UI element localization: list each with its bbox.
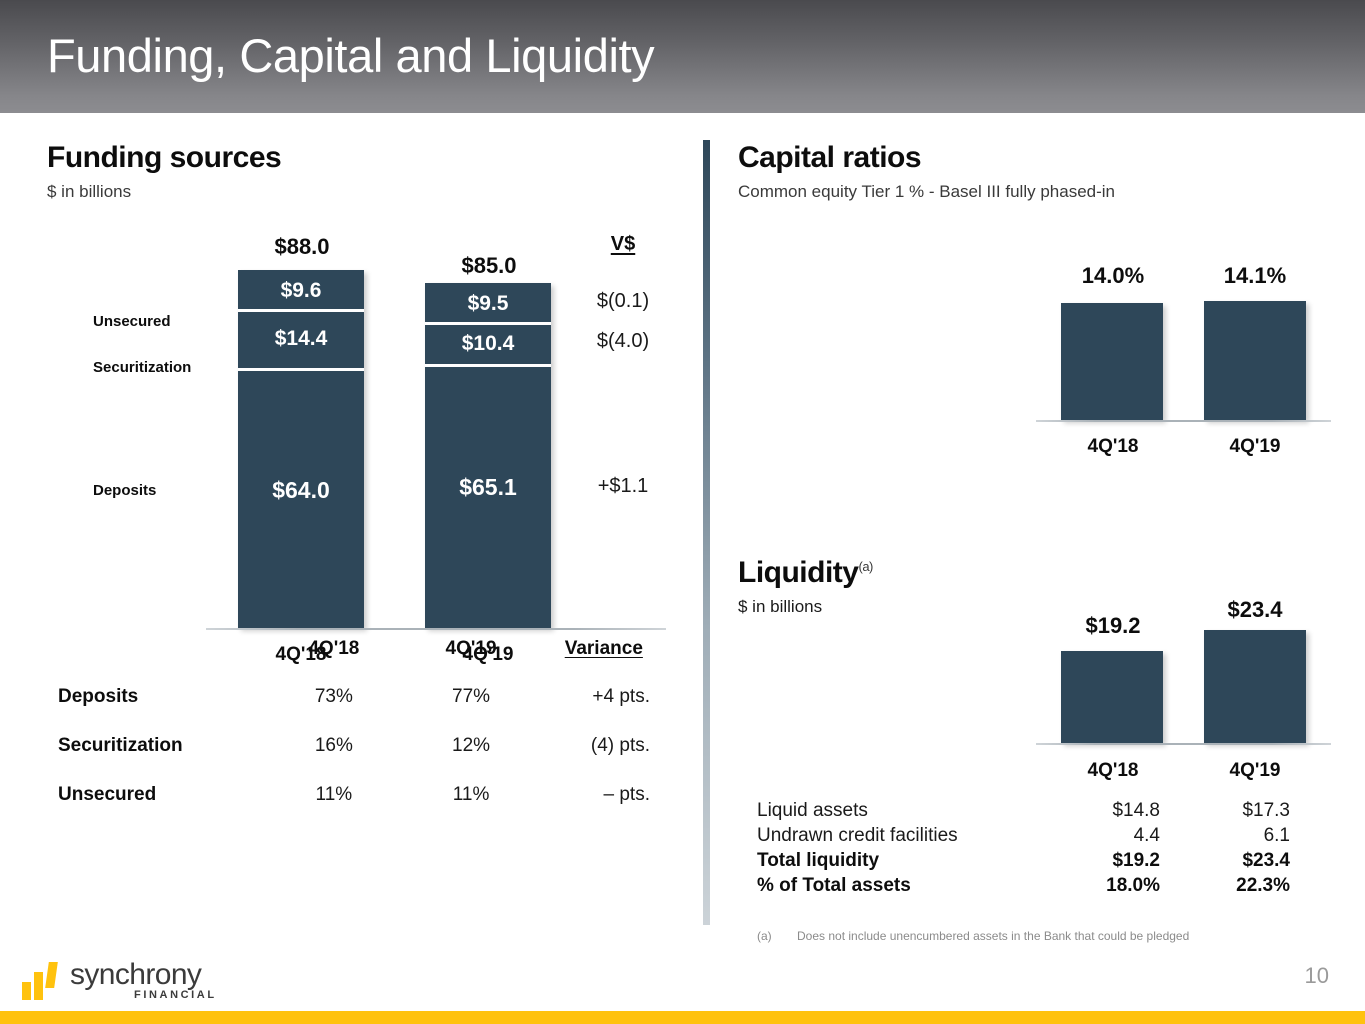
funding-side-label-unsecured: Unsecured — [93, 313, 171, 330]
liquidity-row-label-liquid-assets: Liquid assets — [757, 798, 1052, 823]
capital-value-q19: 14.1% — [1200, 263, 1310, 289]
funding-mix-securitization-variance: (4) pts. — [540, 721, 668, 770]
funding-side-label-securitization: Securitization — [93, 359, 191, 376]
table-row: % of Total assets 18.0% 22.3% — [757, 873, 1312, 898]
liquidity-row-label-pct-assets: % of Total assets — [757, 873, 1052, 898]
funding-variance-unsecured: $(0.1) — [568, 290, 678, 313]
section-divider — [703, 140, 710, 925]
funding-mix-deposits-q19: 77% — [402, 672, 539, 721]
funding-bar-q19-divider-1 — [425, 322, 551, 325]
funding-mix-row-label-unsecured: Unsecured — [58, 770, 265, 819]
logo-wordmark: synchrony — [70, 958, 201, 992]
liquidity-value-q19: $23.4 — [1200, 597, 1310, 623]
funding-bar-q18-divider-2 — [238, 368, 364, 371]
liquidity-row-label-undrawn: Undrawn credit facilities — [757, 823, 1052, 848]
capital-bar-q18 — [1061, 303, 1163, 420]
funding-mix-header-q19: 4Q'19 — [402, 638, 539, 672]
table-row: Securitization 16% 12% (4) pts. — [58, 721, 668, 770]
funding-value-q18-unsecured: $9.6 — [238, 279, 364, 303]
funding-variance-deposits: +$1.1 — [568, 475, 678, 498]
funding-mix-unsecured-q18: 11% — [265, 770, 402, 819]
funding-bar-q18 — [238, 270, 364, 628]
liquidity-heading: Liquidity(a) — [738, 556, 873, 590]
funding-bar-q19-divider-2 — [425, 364, 551, 367]
funding-total-q18: $88.0 — [238, 234, 366, 260]
funding-side-label-deposits: Deposits — [93, 482, 156, 499]
liquidity-heading-text: Liquidity — [738, 556, 858, 589]
slide: Funding, Capital and Liquidity Funding s… — [0, 0, 1365, 1024]
funding-variance-securitization: $(4.0) — [568, 330, 678, 353]
funding-mix-deposits-q18: 73% — [265, 672, 402, 721]
logo-subtext: FINANCIAL — [134, 989, 217, 1001]
liquidity-total-q18: $19.2 — [1052, 848, 1182, 873]
synchrony-logo-mark-icon — [22, 962, 64, 1000]
funding-bar-q18-divider-1 — [238, 309, 364, 312]
funding-mix-deposits-variance: +4 pts. — [540, 672, 668, 721]
liquidity-chart-axis — [1036, 743, 1331, 745]
table-row: Undrawn credit facilities 4.4 6.1 — [757, 823, 1312, 848]
liquidity-bar-q18 — [1061, 651, 1163, 743]
funding-mix-securitization-q18: 16% — [265, 721, 402, 770]
capital-category-q18: 4Q'18 — [1058, 436, 1168, 458]
table-row: Liquid assets $14.8 $17.3 — [757, 798, 1312, 823]
funding-value-q19-unsecured: $9.5 — [425, 292, 551, 316]
funding-mix-row-label-deposits: Deposits — [58, 672, 265, 721]
capital-value-q18: 14.0% — [1058, 263, 1168, 289]
funding-mix-securitization-q19: 12% — [402, 721, 539, 770]
funding-mix-unsecured-variance: – pts. — [540, 770, 668, 819]
liquidity-pct-assets-q19: 22.3% — [1182, 873, 1312, 898]
capital-chart-axis — [1036, 420, 1331, 422]
capital-ratios-subtitle: Common equity Tier 1 % - Basel III fully… — [738, 182, 1115, 202]
funding-mix-header-variance: Variance — [540, 638, 668, 672]
funding-sources-subtitle: $ in billions — [47, 182, 131, 202]
page-number: 10 — [1305, 963, 1329, 989]
funding-mix-header-q18: 4Q'18 — [265, 638, 402, 672]
table-row: Deposits 73% 77% +4 pts. — [58, 672, 668, 721]
capital-ratios-heading: Capital ratios — [738, 141, 921, 175]
footnote-text: Does not include unencumbered assets in … — [797, 929, 1189, 943]
funding-mix-header-row: 4Q'18 4Q'19 Variance — [58, 638, 668, 672]
funding-value-q18-deposits: $64.0 — [238, 477, 364, 504]
funding-mix-row-label-securitization: Securitization — [58, 721, 265, 770]
liquidity-undrawn-q19: 6.1 — [1182, 823, 1312, 848]
footnote-marker: (a) — [757, 929, 772, 943]
liquidity-value-q18: $19.2 — [1058, 613, 1168, 639]
table-row: Unsecured 11% 11% – pts. — [58, 770, 668, 819]
liquidity-pct-assets-q18: 18.0% — [1052, 873, 1182, 898]
liquidity-category-q19: 4Q'19 — [1200, 760, 1310, 782]
liquidity-subtitle: $ in billions — [738, 597, 822, 617]
liquidity-undrawn-q18: 4.4 — [1052, 823, 1182, 848]
slide-header-bar: Funding, Capital and Liquidity — [0, 0, 1365, 113]
funding-mix-header-blank — [58, 638, 265, 672]
funding-value-q19-deposits: $65.1 — [425, 474, 551, 501]
liquidity-category-q18: 4Q'18 — [1058, 760, 1168, 782]
funding-chart-axis — [206, 628, 666, 630]
funding-mix-unsecured-q19: 11% — [402, 770, 539, 819]
funding-mix-table: 4Q'18 4Q'19 Variance Deposits 73% 77% +4… — [58, 638, 668, 819]
funding-value-q19-securitization: $10.4 — [425, 332, 551, 356]
synchrony-financial-logo: synchrony FINANCIAL — [22, 958, 222, 1008]
table-row: Total liquidity $19.2 $23.4 — [757, 848, 1312, 873]
liquidity-row-label-total: Total liquidity — [757, 848, 1052, 873]
liquidity-footnote-superscript: (a) — [858, 559, 872, 574]
capital-bar-q19 — [1204, 301, 1306, 420]
liquidity-liquid-assets-q19: $17.3 — [1182, 798, 1312, 823]
liquidity-detail-table: Liquid assets $14.8 $17.3 Undrawn credit… — [757, 798, 1312, 898]
funding-variance-header: V$ — [568, 233, 678, 256]
liquidity-bar-q19 — [1204, 630, 1306, 743]
page-title: Funding, Capital and Liquidity — [47, 28, 654, 83]
liquidity-total-q19: $23.4 — [1182, 848, 1312, 873]
capital-category-q19: 4Q'19 — [1200, 436, 1310, 458]
footer-accent-bar — [0, 1011, 1365, 1024]
funding-value-q18-securitization: $14.4 — [238, 327, 364, 351]
funding-total-q19: $85.0 — [425, 253, 553, 279]
funding-sources-heading: Funding sources — [47, 141, 281, 175]
liquidity-liquid-assets-q18: $14.8 — [1052, 798, 1182, 823]
